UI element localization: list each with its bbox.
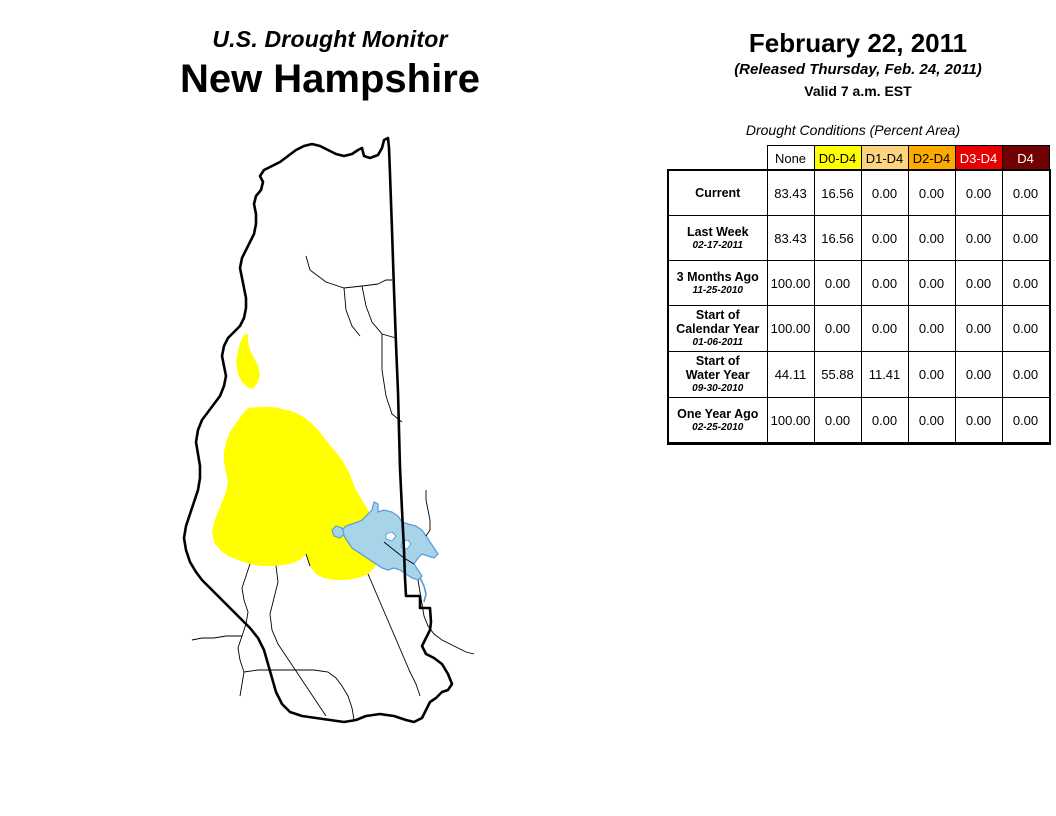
value-cell: 55.88 <box>814 352 861 398</box>
value-cell: 0.00 <box>1002 398 1049 443</box>
value-cell: 0.00 <box>814 306 861 352</box>
value-cell: 0.00 <box>955 216 1002 261</box>
value-cell: 44.11 <box>767 352 814 398</box>
row-date: 09-30-2010 <box>673 383 763 395</box>
value-cell: 100.00 <box>767 398 814 443</box>
value-cell: 16.56 <box>814 216 861 261</box>
column-header-d4: D4 <box>1002 146 1049 171</box>
value-cell: 100.00 <box>767 261 814 306</box>
row-label: Start ofCalendar Year01-06-2011 <box>669 306 768 352</box>
value-cell: 0.00 <box>908 171 955 216</box>
value-cell: 0.00 <box>955 171 1002 216</box>
value-cell: 0.00 <box>861 306 908 352</box>
value-cell: 16.56 <box>814 171 861 216</box>
map-panel: U.S. Drought Monitor New Hampshire <box>0 0 660 816</box>
row-date: 01-06-2011 <box>673 337 763 349</box>
value-cell: 0.00 <box>814 261 861 306</box>
value-cell: 0.00 <box>955 352 1002 398</box>
value-cell: 0.00 <box>1002 171 1049 216</box>
info-panel: February 22, 2011 (Released Thursday, Fe… <box>660 0 1056 816</box>
column-header-d2-d4: D2-D4 <box>908 146 955 171</box>
date-block: February 22, 2011 (Released Thursday, Fe… <box>660 28 1056 100</box>
value-cell: 83.43 <box>767 171 814 216</box>
value-cell: 0.00 <box>861 398 908 443</box>
table-row: Last Week02-17-201183.4316.560.000.000.0… <box>669 216 1050 261</box>
table-row: One Year Ago02-25-2010100.000.000.000.00… <box>669 398 1050 443</box>
value-cell: 0.00 <box>908 352 955 398</box>
valid-date: February 22, 2011 <box>660 28 1056 58</box>
state-name-title: New Hampshire <box>0 56 660 102</box>
value-cell: 0.00 <box>814 398 861 443</box>
map-title-block: U.S. Drought Monitor New Hampshire <box>0 26 660 102</box>
column-header-d0-d4: D0-D4 <box>814 146 861 171</box>
value-cell: 0.00 <box>955 306 1002 352</box>
row-label: Current <box>669 171 768 216</box>
value-cell: 0.00 <box>908 306 955 352</box>
row-date: 11-25-2010 <box>673 285 763 297</box>
value-cell: 0.00 <box>1002 216 1049 261</box>
table-row: Start ofWater Year09-30-201044.1155.8811… <box>669 352 1050 398</box>
value-cell: 0.00 <box>908 398 955 443</box>
value-cell: 0.00 <box>1002 261 1049 306</box>
table-row: Current83.4316.560.000.000.000.00 <box>669 171 1050 216</box>
table-caption: Drought Conditions (Percent Area) <box>660 122 1046 138</box>
row-date: 02-17-2011 <box>673 240 763 252</box>
value-cell: 0.00 <box>861 171 908 216</box>
column-header-d3-d4: D3-D4 <box>955 146 1002 171</box>
table-body: Current83.4316.560.000.000.000.00Last We… <box>669 171 1050 443</box>
table-row: 3 Months Ago11-25-2010100.000.000.000.00… <box>669 261 1050 306</box>
new-hampshire-map[interactable] <box>130 130 550 740</box>
value-cell: 0.00 <box>955 398 1002 443</box>
value-cell: 0.00 <box>1002 352 1049 398</box>
value-cell: 0.00 <box>955 261 1002 306</box>
table-header-row: None D0-D4 D1-D4 D2-D4 D3-D4 D4 <box>669 146 1050 171</box>
value-cell: 0.00 <box>908 261 955 306</box>
valid-time: Valid 7 a.m. EST <box>660 82 1056 100</box>
table-header: None D0-D4 D1-D4 D2-D4 D3-D4 D4 <box>669 146 1050 171</box>
released-date: (Released Thursday, Feb. 24, 2011) <box>660 60 1056 80</box>
value-cell: 0.00 <box>908 216 955 261</box>
drought-monitor-supertitle: U.S. Drought Monitor <box>0 26 660 52</box>
column-header-none: None <box>767 146 814 171</box>
row-label: Last Week02-17-2011 <box>669 216 768 261</box>
row-date: 02-25-2010 <box>673 422 763 434</box>
row-label: Start ofWater Year09-30-2010 <box>669 352 768 398</box>
table-row: Start ofCalendar Year01-06-2011100.000.0… <box>669 306 1050 352</box>
value-cell: 11.41 <box>861 352 908 398</box>
value-cell: 0.00 <box>861 216 908 261</box>
value-cell: 100.00 <box>767 306 814 352</box>
value-cell: 0.00 <box>1002 306 1049 352</box>
new-hampshire-map-svg[interactable] <box>130 130 550 740</box>
drought-conditions-table: None D0-D4 D1-D4 D2-D4 D3-D4 D4 Current8… <box>668 145 1050 443</box>
value-cell: 0.00 <box>861 261 908 306</box>
row-label: One Year Ago02-25-2010 <box>669 398 768 443</box>
row-label: 3 Months Ago11-25-2010 <box>669 261 768 306</box>
value-cell: 83.43 <box>767 216 814 261</box>
table-corner-blank <box>669 146 768 171</box>
column-header-d1-d4: D1-D4 <box>861 146 908 171</box>
